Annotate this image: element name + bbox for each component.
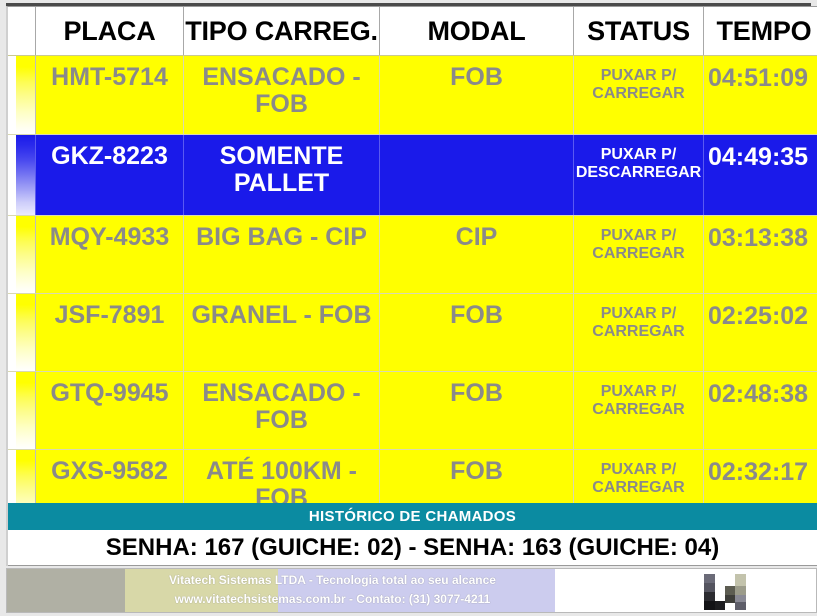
column-header-modal: MODAL xyxy=(380,7,574,55)
table-row[interactable]: MQY-4933 BIG BAG - CIP CIP PUXAR P/ CARR… xyxy=(8,216,817,294)
senha-ticker-bar: SENHA: 167 (GUICHE: 02) - SENHA: 163 (GU… xyxy=(8,530,817,566)
row-status-strip xyxy=(8,372,36,449)
cell-modal: FOB xyxy=(380,372,574,449)
footer-contact-line: www.vitatechsistemas.com.br - Contato: (… xyxy=(7,590,658,609)
cell-status: PUXAR P/ CARREGAR xyxy=(574,294,704,371)
cell-status: PUXAR P/ DESCARREGAR xyxy=(574,135,704,215)
footer-bar: Vitatech Sistemas LTDA - Tecnologia tota… xyxy=(6,568,817,613)
cell-tipo: BIG BAG - CIP xyxy=(184,216,380,293)
cell-tempo: 04:51:09 xyxy=(704,56,817,134)
cell-status: PUXAR P/ CARREGAR xyxy=(574,216,704,293)
cell-modal xyxy=(380,135,574,215)
column-header-placa: PLACA xyxy=(36,7,184,55)
column-header-status: STATUS xyxy=(574,7,704,55)
row-status-strip xyxy=(8,216,36,293)
cell-placa: JSF-7891 xyxy=(36,294,184,371)
cell-placa: HMT-5714 xyxy=(36,56,184,134)
footer-company-line: Vitatech Sistemas LTDA - Tecnologia tota… xyxy=(7,571,658,590)
row-status-strip xyxy=(8,135,36,215)
column-header-tempo: TEMPO xyxy=(704,7,817,55)
row-status-strip xyxy=(8,294,36,371)
cell-placa: MQY-4933 xyxy=(36,216,184,293)
queue-display-screen: PLACA TIPO CARREG. MODAL STATUS TEMPO HM… xyxy=(0,0,817,616)
header-strip-cell xyxy=(8,7,36,55)
cell-tipo: GRANEL - FOB xyxy=(184,294,380,371)
table-header-row: PLACA TIPO CARREG. MODAL STATUS TEMPO xyxy=(8,7,817,56)
cell-modal: FOB xyxy=(380,56,574,134)
cell-tempo: 02:48:38 xyxy=(704,372,817,449)
cell-status: PUXAR P/ CARREGAR xyxy=(574,56,704,134)
table-row[interactable]: HMT-5714 ENSACADO - FOB FOB PUXAR P/ CAR… xyxy=(8,56,817,135)
cell-tipo: ENSACADO - FOB xyxy=(184,56,380,134)
cell-tipo: ENSACADO - FOB xyxy=(184,372,380,449)
lh-logo-icon xyxy=(700,572,752,612)
cell-tempo: 03:13:38 xyxy=(704,216,817,293)
row-status-strip xyxy=(8,56,36,134)
table-row[interactable]: JSF-7891 GRANEL - FOB FOB PUXAR P/ CARRE… xyxy=(8,294,817,372)
cell-placa: GKZ-8223 xyxy=(36,135,184,215)
table-row[interactable]: GTQ-9945 ENSACADO - FOB FOB PUXAR P/ CAR… xyxy=(8,372,817,450)
table-row-active[interactable]: GKZ-8223 SOMENTE PALLET PUXAR P/ DESCARR… xyxy=(8,135,817,216)
cell-tempo: 02:25:02 xyxy=(704,294,817,371)
cell-status: PUXAR P/ CARREGAR xyxy=(574,372,704,449)
historico-de-chamados-bar: HISTÓRICO DE CHAMADOS xyxy=(8,503,817,530)
senha-text: SENHA: 167 (GUICHE: 02) - SENHA: 163 (GU… xyxy=(106,534,719,562)
historico-title: HISTÓRICO DE CHAMADOS xyxy=(309,508,516,525)
cell-tempo: 04:49:35 xyxy=(704,135,817,215)
column-header-tipo-carreg: TIPO CARREG. xyxy=(184,7,380,55)
cell-tipo: SOMENTE PALLET xyxy=(184,135,380,215)
cell-modal: FOB xyxy=(380,294,574,371)
cell-placa: GTQ-9945 xyxy=(36,372,184,449)
cell-modal: CIP xyxy=(380,216,574,293)
vehicle-queue-table: PLACA TIPO CARREG. MODAL STATUS TEMPO HM… xyxy=(8,7,817,503)
footer-credits: Vitatech Sistemas LTDA - Tecnologia tota… xyxy=(7,571,817,608)
